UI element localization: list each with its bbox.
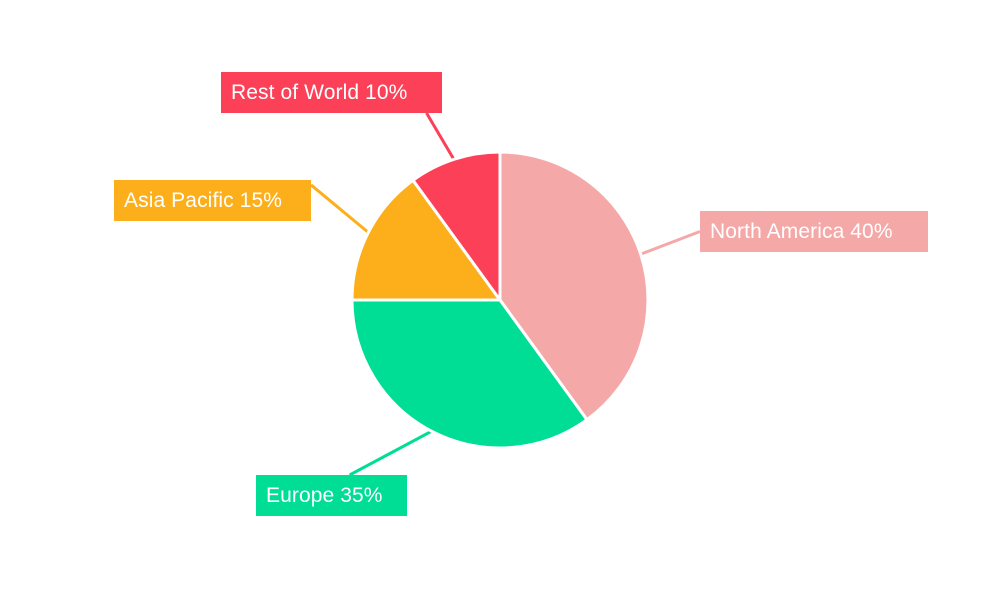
callout-europe[interactable]: Europe 35%: [256, 475, 407, 516]
leader-line-north-america: [639, 232, 700, 255]
callout-label-rest-of-world: Rest of World 10%: [231, 82, 407, 103]
callout-north-america[interactable]: North America 40%: [700, 211, 928, 252]
callout-label-europe: Europe 35%: [266, 485, 383, 506]
callout-label-asia-pacific: Asia Pacific 15%: [124, 190, 282, 211]
leader-line-europe: [350, 430, 434, 475]
pie-slice-group: [352, 152, 648, 448]
leader-line-asia-pacific: [311, 185, 370, 234]
callout-label-north-america: North America 40%: [710, 221, 893, 242]
pie-chart-canvas: [0, 0, 1000, 600]
callout-asia-pacific[interactable]: Asia Pacific 15%: [114, 180, 311, 221]
leader-line-rest-of-world: [427, 113, 455, 161]
pie-chart-figure: North America 40% Europe 35% Asia Pacifi…: [0, 0, 1000, 600]
callout-rest-of-world[interactable]: Rest of World 10%: [221, 72, 442, 113]
